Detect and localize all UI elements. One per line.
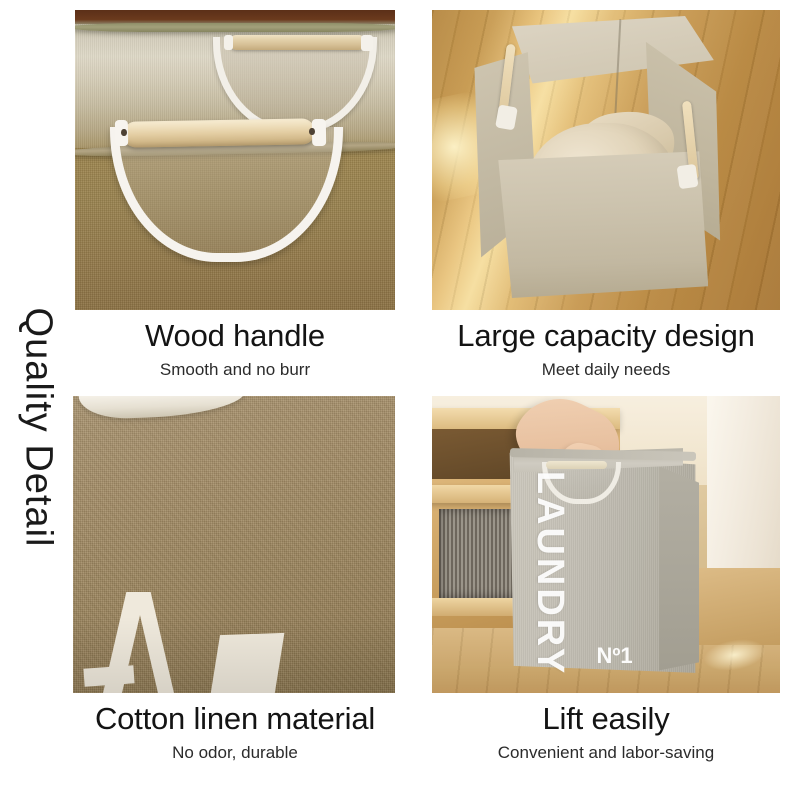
basket-laundry-print: LAUNDRY [526, 499, 574, 647]
basket-handle-rod [546, 461, 607, 469]
photo-cotton-linen [73, 396, 395, 693]
bottom-shading [73, 616, 395, 693]
caption-title: Large capacity design [412, 320, 800, 353]
hamper-binding-right [676, 164, 698, 189]
caption-subtitle: Smooth and no burr [55, 360, 415, 380]
basket-rim-rear [75, 23, 395, 33]
dowel-pin-left [121, 129, 126, 136]
caption-subtitle: No odor, durable [55, 743, 415, 763]
photo-wood-handle [75, 10, 395, 310]
wood-dowel-front [123, 118, 315, 147]
caption-lift-easily: Lift easily Convenient and labor-saving [412, 703, 800, 763]
handle-binding-rear-right [361, 35, 372, 51]
basket-number-print: Nº1 [596, 643, 632, 669]
basket-number-text: Nº1 [596, 643, 632, 668]
vertical-section-label-text: Quality Detail [17, 307, 60, 547]
caption-title: Wood handle [55, 320, 415, 353]
photo-lift-easily: LAUNDRY Nº1 [432, 396, 780, 693]
wood-dowel-rear [229, 35, 367, 51]
basket-side-panel [659, 462, 699, 670]
caption-title: Lift easily [412, 703, 800, 736]
caption-wood-handle: Wood handle Smooth and no burr [55, 320, 415, 380]
handle-binding-rear-left [224, 35, 234, 50]
dowel-pin-right [309, 128, 314, 135]
basket-laundry-text: LAUNDRY [529, 471, 572, 676]
caption-cotton-linen: Cotton linen material No odor, durable [55, 703, 415, 763]
caption-title: Cotton linen material [55, 703, 415, 736]
caption-subtitle: Meet daily needs [412, 360, 800, 380]
caption-subtitle: Convenient and labor-saving [412, 743, 800, 763]
baseboard-trim [696, 568, 780, 645]
grey-laundry-basket: LAUNDRY Nº1 [502, 444, 704, 676]
caption-large-capacity: Large capacity design Meet daily needs [412, 320, 800, 380]
photo-large-capacity [432, 10, 780, 310]
infographic-page: Quality Detail Wood handle Smooth and no… [0, 0, 800, 800]
vertical-section-label: Quality Detail [0, 262, 76, 592]
hamper-front-wall [480, 151, 708, 298]
laundry-hamper [463, 16, 741, 298]
